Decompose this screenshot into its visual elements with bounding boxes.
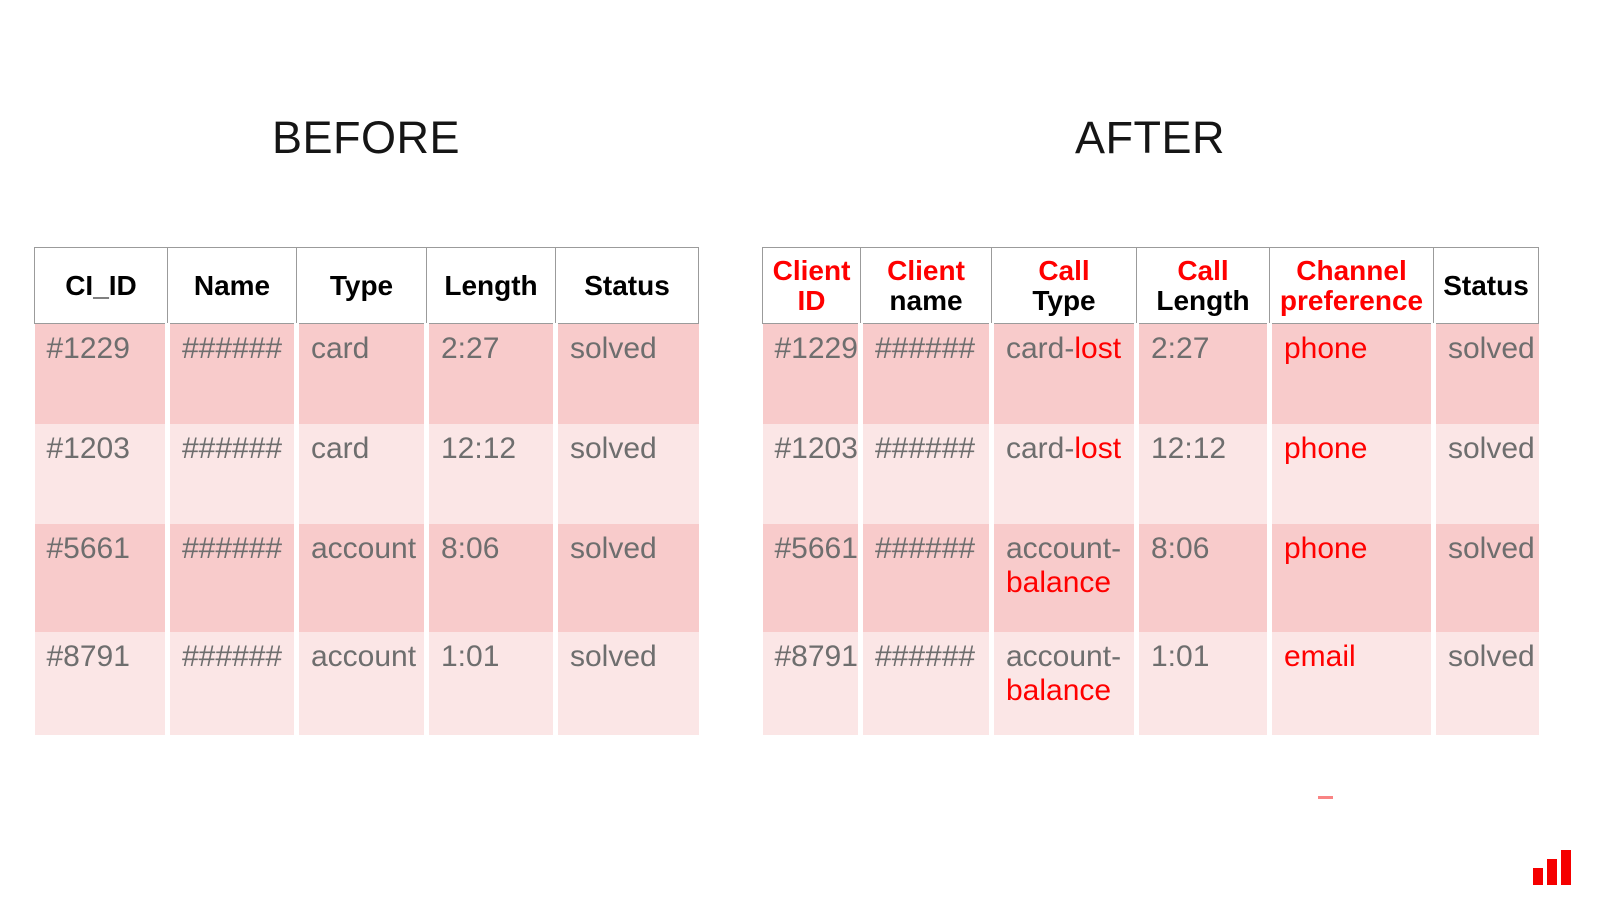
after-cell-text: 12:12	[1151, 432, 1226, 465]
after-cell-text: 2:27	[1151, 332, 1209, 365]
before-column-header-1: Name	[168, 248, 297, 324]
after-cell-r2-c0: #5661	[763, 524, 861, 632]
after-column-header-5: Status	[1434, 248, 1539, 324]
before-table-row: #5661######account8:06solved	[35, 524, 699, 632]
after-header-row: ClientIDClientnameCallTypeCallLengthChan…	[763, 248, 1539, 324]
stray-dash-mark	[1318, 796, 1333, 799]
before-cell-text: card	[311, 432, 369, 465]
before-cell-text: 1:01	[441, 640, 499, 673]
before-cell-text: 8:06	[441, 532, 499, 565]
after-header-4-line1: Channel	[1296, 255, 1406, 286]
after-cell-accent-text: balance	[1006, 674, 1111, 707]
after-cell-text: ######	[875, 532, 975, 565]
before-column-header-0: CI_ID	[35, 248, 168, 324]
after-column-header-2: CallType	[992, 248, 1137, 324]
before-cell-r0-c1: ######	[168, 324, 297, 424]
after-cell-text: card-	[1006, 432, 1074, 465]
after-table-head: ClientIDClientnameCallTypeCallLengthChan…	[763, 248, 1539, 324]
after-cell-r1-c1: ######	[861, 424, 992, 524]
after-cell-accent-text: phone	[1284, 332, 1367, 365]
before-header-2-line1: Type	[330, 270, 393, 301]
after-header-4-line2: preference	[1280, 285, 1423, 316]
before-cell-text: card	[311, 332, 369, 365]
after-cell-r0-c3: 2:27	[1137, 324, 1270, 424]
after-header-3-line2: Length	[1156, 285, 1249, 316]
after-cell-text: solved	[1448, 532, 1535, 565]
before-cell-text: ######	[182, 332, 282, 365]
after-column-header-3: CallLength	[1137, 248, 1270, 324]
before-cell-r0-c0: #1229	[35, 324, 168, 424]
before-cell-text: #5661	[47, 532, 130, 565]
after-table-container: ClientIDClientnameCallTypeCallLengthChan…	[762, 247, 1538, 735]
logo-bar-3	[1561, 850, 1571, 885]
before-cell-r2-c0: #5661	[35, 524, 168, 632]
after-cell-text: account-	[1006, 532, 1121, 565]
after-table-row: #8791######account-balance1:01emailsolve…	[763, 632, 1539, 735]
after-cell-text: ######	[875, 332, 975, 365]
after-header-2-line1: Call	[1038, 255, 1089, 286]
after-header-2-line2: Type	[1032, 285, 1095, 316]
before-cell-text: ######	[182, 532, 282, 565]
before-column-header-3: Length	[427, 248, 556, 324]
after-cell-text: ######	[875, 432, 975, 465]
before-cell-r1-c2: card	[297, 424, 427, 524]
after-cell-text: #5661	[775, 532, 858, 565]
before-cell-r1-c3: 12:12	[427, 424, 556, 524]
before-cell-text: #1203	[47, 432, 130, 465]
after-header-3-line1: Call	[1177, 255, 1228, 286]
after-cell-r3-c4: email	[1270, 632, 1434, 735]
before-column-header-4: Status	[556, 248, 699, 324]
after-header-1-line1: Client	[887, 255, 965, 286]
before-cell-r1-c4: solved	[556, 424, 699, 524]
before-table-head: CI_IDNameTypeLengthStatus	[35, 248, 699, 324]
before-cell-text: solved	[570, 640, 657, 673]
after-table-row: #1229######card-lost2:27phonesolved	[763, 324, 1539, 424]
after-cell-r0-c0: #1229	[763, 324, 861, 424]
after-cell-text: 1:01	[1151, 640, 1209, 673]
after-cell-accent-text: email	[1284, 640, 1356, 673]
before-cell-r3-c0: #8791	[35, 632, 168, 735]
before-cell-r2-c3: 8:06	[427, 524, 556, 632]
before-cell-text: #8791	[47, 640, 130, 673]
after-cell-r2-c4: phone	[1270, 524, 1434, 632]
before-cell-text: 2:27	[441, 332, 499, 365]
before-cell-text: 12:12	[441, 432, 516, 465]
before-cell-text: account	[311, 640, 416, 673]
after-cell-r1-c3: 12:12	[1137, 424, 1270, 524]
after-cell-r1-c5: solved	[1434, 424, 1539, 524]
before-cell-r2-c4: solved	[556, 524, 699, 632]
after-cell-text: 8:06	[1151, 532, 1209, 565]
after-header-1-line2: name	[889, 285, 962, 316]
slide-canvas: BEFORE CI_IDNameTypeLengthStatus #1229##…	[0, 0, 1600, 900]
before-table-container: CI_IDNameTypeLengthStatus #1229######car…	[34, 247, 698, 735]
after-header-0-line1: Client	[773, 255, 851, 286]
before-cell-r0-c4: solved	[556, 324, 699, 424]
after-table: ClientIDClientnameCallTypeCallLengthChan…	[762, 247, 1539, 735]
after-cell-r0-c5: solved	[1434, 324, 1539, 424]
before-cell-r3-c2: account	[297, 632, 427, 735]
before-table-row: #1229######card2:27solved	[35, 324, 699, 424]
after-cell-r1-c2: card-lost	[992, 424, 1137, 524]
after-cell-r2-c1: ######	[861, 524, 992, 632]
before-cell-text: solved	[570, 532, 657, 565]
after-cell-text: card-	[1006, 332, 1074, 365]
after-cell-r2-c5: solved	[1434, 524, 1539, 632]
after-cell-text: solved	[1448, 332, 1535, 365]
before-cell-text: #1229	[47, 332, 130, 365]
after-table-row: #5661######account-balance8:06phonesolve…	[763, 524, 1539, 632]
after-header-0-line2: ID	[798, 285, 826, 316]
after-cell-r0-c1: ######	[861, 324, 992, 424]
after-cell-r3-c0: #8791	[763, 632, 861, 735]
after-cell-r3-c2: account-balance	[992, 632, 1137, 735]
before-cell-r1-c0: #1203	[35, 424, 168, 524]
after-column-header-4: Channelpreference	[1270, 248, 1434, 324]
before-cell-text: solved	[570, 332, 657, 365]
before-cell-r2-c1: ######	[168, 524, 297, 632]
after-cell-text: solved	[1448, 432, 1535, 465]
before-cell-r2-c2: account	[297, 524, 427, 632]
after-cell-r2-c2: account-balance	[992, 524, 1137, 632]
logo-bar-1	[1533, 868, 1543, 885]
before-cell-r0-c3: 2:27	[427, 324, 556, 424]
after-cell-r1-c4: phone	[1270, 424, 1434, 524]
before-cell-r1-c1: ######	[168, 424, 297, 524]
before-cell-r0-c2: card	[297, 324, 427, 424]
before-header-3-line1: Length	[444, 270, 537, 301]
after-cell-accent-text: lost	[1074, 432, 1121, 465]
after-cell-r3-c5: solved	[1434, 632, 1539, 735]
before-cell-text: account	[311, 532, 416, 565]
after-column-header-1: Clientname	[861, 248, 992, 324]
after-cell-accent-text: lost	[1074, 332, 1121, 365]
after-cell-text: #8791	[775, 640, 858, 673]
before-cell-r3-c3: 1:01	[427, 632, 556, 735]
after-cell-text: account-	[1006, 640, 1121, 673]
after-cell-accent-text: phone	[1284, 432, 1367, 465]
before-header-1-line1: Name	[194, 270, 270, 301]
after-cell-accent-text: phone	[1284, 532, 1367, 565]
before-column-header-2: Type	[297, 248, 427, 324]
panel-title-after: AFTER	[762, 112, 1538, 164]
after-cell-r3-c1: ######	[861, 632, 992, 735]
before-header-row: CI_IDNameTypeLengthStatus	[35, 248, 699, 324]
after-cell-r0-c2: card-lost	[992, 324, 1137, 424]
before-header-4-line1: Status	[584, 270, 670, 301]
before-table-body: #1229######card2:27solved#1203######card…	[35, 324, 699, 735]
after-cell-r1-c0: #1203	[763, 424, 861, 524]
after-cell-r2-c3: 8:06	[1137, 524, 1270, 632]
bar-chart-logo-icon	[1533, 849, 1581, 885]
before-cell-r3-c4: solved	[556, 632, 699, 735]
after-cell-accent-text: balance	[1006, 566, 1111, 599]
after-cell-text: #1229	[775, 332, 858, 365]
before-cell-r3-c1: ######	[168, 632, 297, 735]
before-cell-text: solved	[570, 432, 657, 465]
before-table-row: #8791######account1:01solved	[35, 632, 699, 735]
panel-title-before: BEFORE	[34, 112, 698, 164]
before-header-0-line1: CI_ID	[65, 270, 137, 301]
after-column-header-0: ClientID	[763, 248, 861, 324]
before-cell-text: ######	[182, 432, 282, 465]
after-table-body: #1229######card-lost2:27phonesolved#1203…	[763, 324, 1539, 735]
after-cell-r3-c3: 1:01	[1137, 632, 1270, 735]
before-table-row: #1203######card12:12solved	[35, 424, 699, 524]
after-cell-r0-c4: phone	[1270, 324, 1434, 424]
after-cell-text: ######	[875, 640, 975, 673]
after-cell-text: #1203	[775, 432, 858, 465]
before-table: CI_IDNameTypeLengthStatus #1229######car…	[34, 247, 699, 735]
after-header-5-line1: Status	[1443, 270, 1529, 301]
after-cell-text: solved	[1448, 640, 1535, 673]
logo-bar-2	[1547, 859, 1557, 885]
after-table-row: #1203######card-lost12:12phonesolved	[763, 424, 1539, 524]
before-cell-text: ######	[182, 640, 282, 673]
